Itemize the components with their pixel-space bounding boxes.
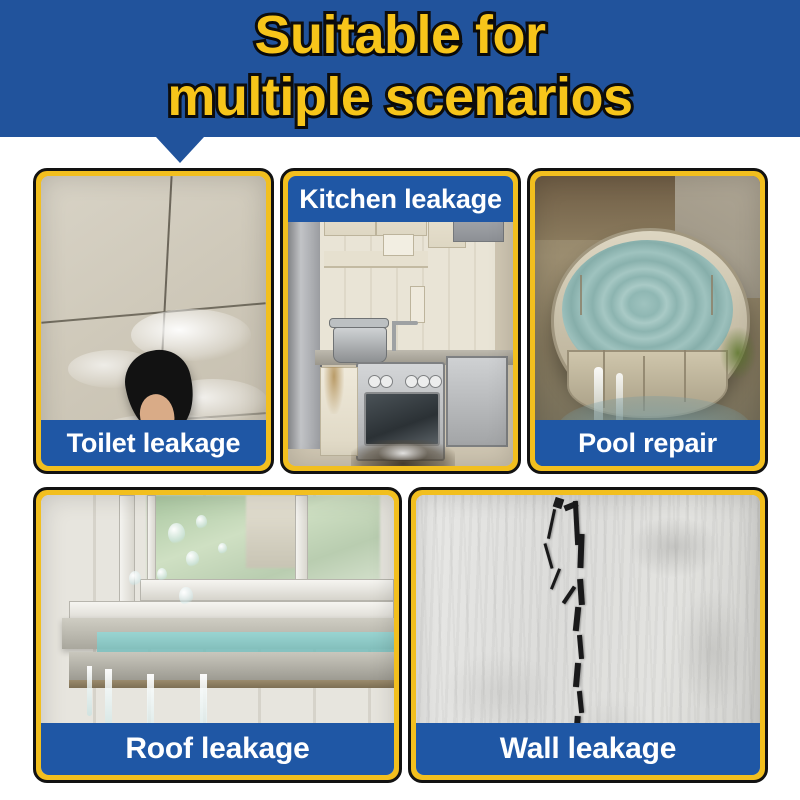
scenario-card-roof-leakage[interactable]: Roof leakage — [33, 487, 402, 783]
scenario-card-wall-leakage[interactable]: Wall leakage — [408, 487, 768, 783]
card-photo-kitchen-leakage: Kitchen leakage — [288, 176, 513, 466]
card-label-toilet-leakage: Toilet leakage — [41, 420, 266, 466]
card-label-pool-repair: Pool repair — [535, 420, 760, 466]
card-photo-toilet-leakage: Toilet leakage — [41, 176, 266, 466]
scenario-card-grid: Toilet leakage — [0, 137, 800, 800]
card-photo-pool-repair: Pool repair — [535, 176, 760, 466]
card-label-wall-leakage: Wall leakage — [416, 723, 760, 775]
page-title-line-2: multiple scenarios — [0, 66, 800, 128]
scenario-card-pool-repair[interactable]: Pool repair — [527, 168, 768, 474]
card-photo-roof-leakage: Roof leakage — [41, 495, 394, 775]
page-title-line-1: Suitable for — [0, 4, 800, 66]
card-label-kitchen-leakage: Kitchen leakage — [288, 176, 513, 222]
scenario-card-toilet-leakage[interactable]: Toilet leakage — [33, 168, 274, 474]
scenario-card-kitchen-leakage[interactable]: Kitchen leakage — [280, 168, 521, 474]
header-banner: Suitable for multiple scenarios — [0, 0, 800, 137]
page-title: Suitable for multiple scenarios — [0, 4, 800, 128]
card-photo-wall-leakage: Wall leakage — [416, 495, 760, 775]
card-label-roof-leakage: Roof leakage — [41, 723, 394, 775]
